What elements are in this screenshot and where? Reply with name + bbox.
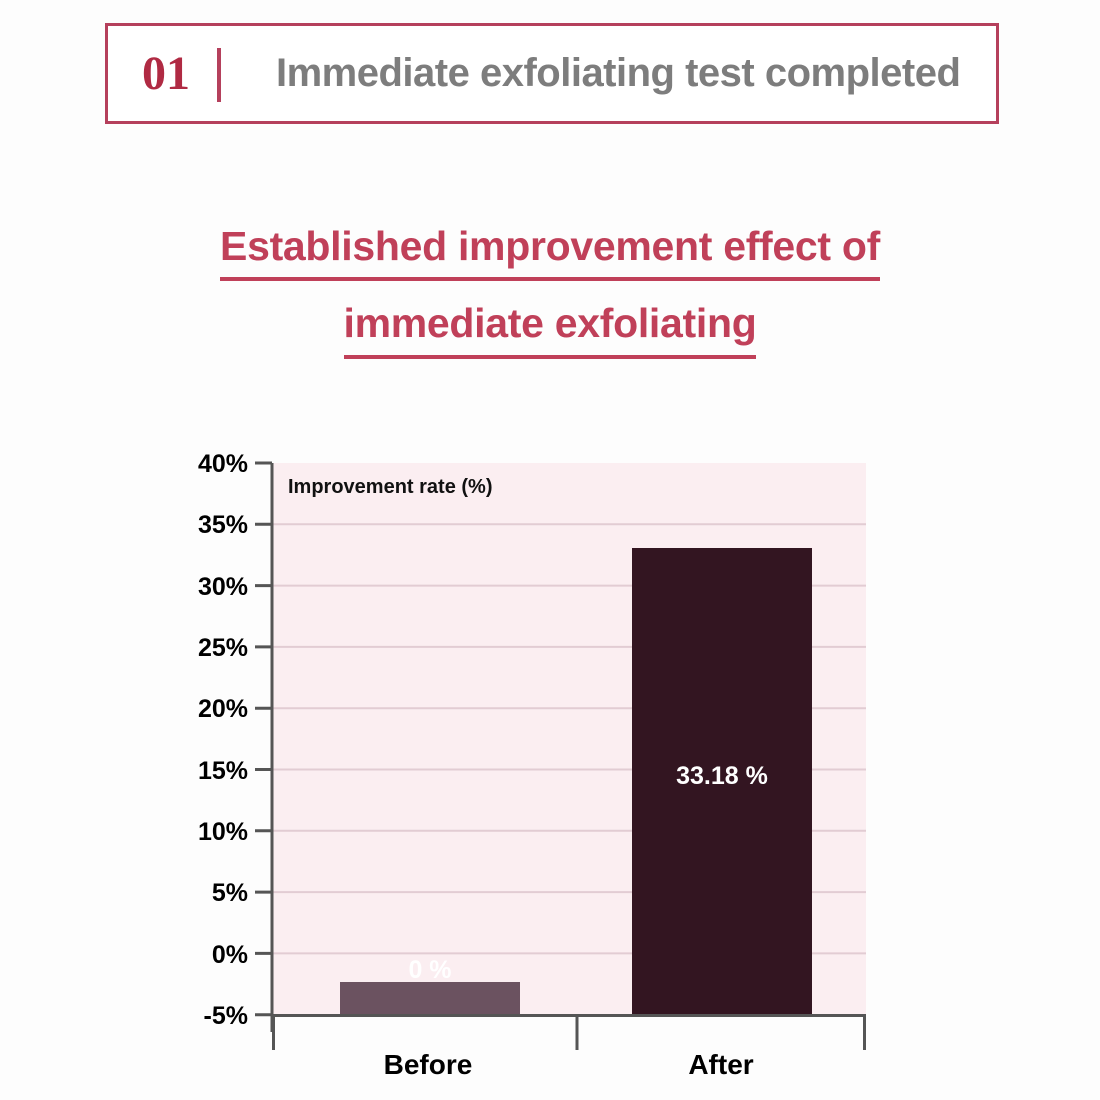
- ytick-label-30: 30%: [198, 573, 248, 601]
- y-axis-ticks: [255, 463, 272, 1015]
- ytick-label-25: 25%: [198, 634, 248, 662]
- ytick-label-5: 5%: [212, 879, 248, 907]
- xtick-label-before: Before: [384, 1049, 473, 1080]
- ytick-label-40: 40%: [198, 450, 248, 478]
- section-number: 01: [142, 50, 190, 98]
- ytick-label-neg5: -5%: [204, 1002, 248, 1030]
- main-heading-line-1-wrap: Established improvement effect of: [0, 222, 1100, 299]
- bar-chart: 40% 35% 30% 25% 20% 15% 10% 5% 0% -5% Im…: [0, 0, 1100, 1100]
- main-heading: Established improvement effect of immedi…: [0, 222, 1100, 377]
- x-axis-ticks: [274, 1015, 865, 1050]
- section-title: Immediate exfoliating test completed: [276, 51, 960, 96]
- main-heading-line-2: immediate exfoliating: [344, 299, 757, 358]
- ytick-label-10: 10%: [198, 818, 248, 846]
- ytick-label-35: 35%: [198, 511, 248, 539]
- bar-chart-svg: 40% 35% 30% 25% 20% 15% 10% 5% 0% -5% Im…: [0, 0, 1100, 1100]
- bar-before: [340, 982, 520, 1015]
- plot-area-background: [272, 463, 866, 1015]
- ytick-label-0: 0%: [212, 941, 248, 969]
- axis-title: Improvement rate (%): [288, 476, 493, 498]
- bar-value-label-after: 33.18 %: [676, 762, 768, 790]
- section-header-box: 01 Immediate exfoliating test completed: [105, 23, 999, 124]
- bar-after: [632, 548, 812, 1015]
- xtick-label-after: After: [688, 1049, 753, 1080]
- main-heading-line-2-wrap: immediate exfoliating: [0, 299, 1100, 376]
- ytick-label-15: 15%: [198, 757, 248, 785]
- bar-value-label-before: 0 %: [408, 956, 451, 984]
- gridlines: [272, 524, 866, 953]
- main-heading-line-1: Established improvement effect of: [220, 222, 880, 281]
- y-axis-tick-labels: 40% 35% 30% 25% 20% 15% 10% 5% 0% -5%: [198, 450, 248, 1030]
- ytick-label-20: 20%: [198, 695, 248, 723]
- section-divider: [217, 48, 221, 102]
